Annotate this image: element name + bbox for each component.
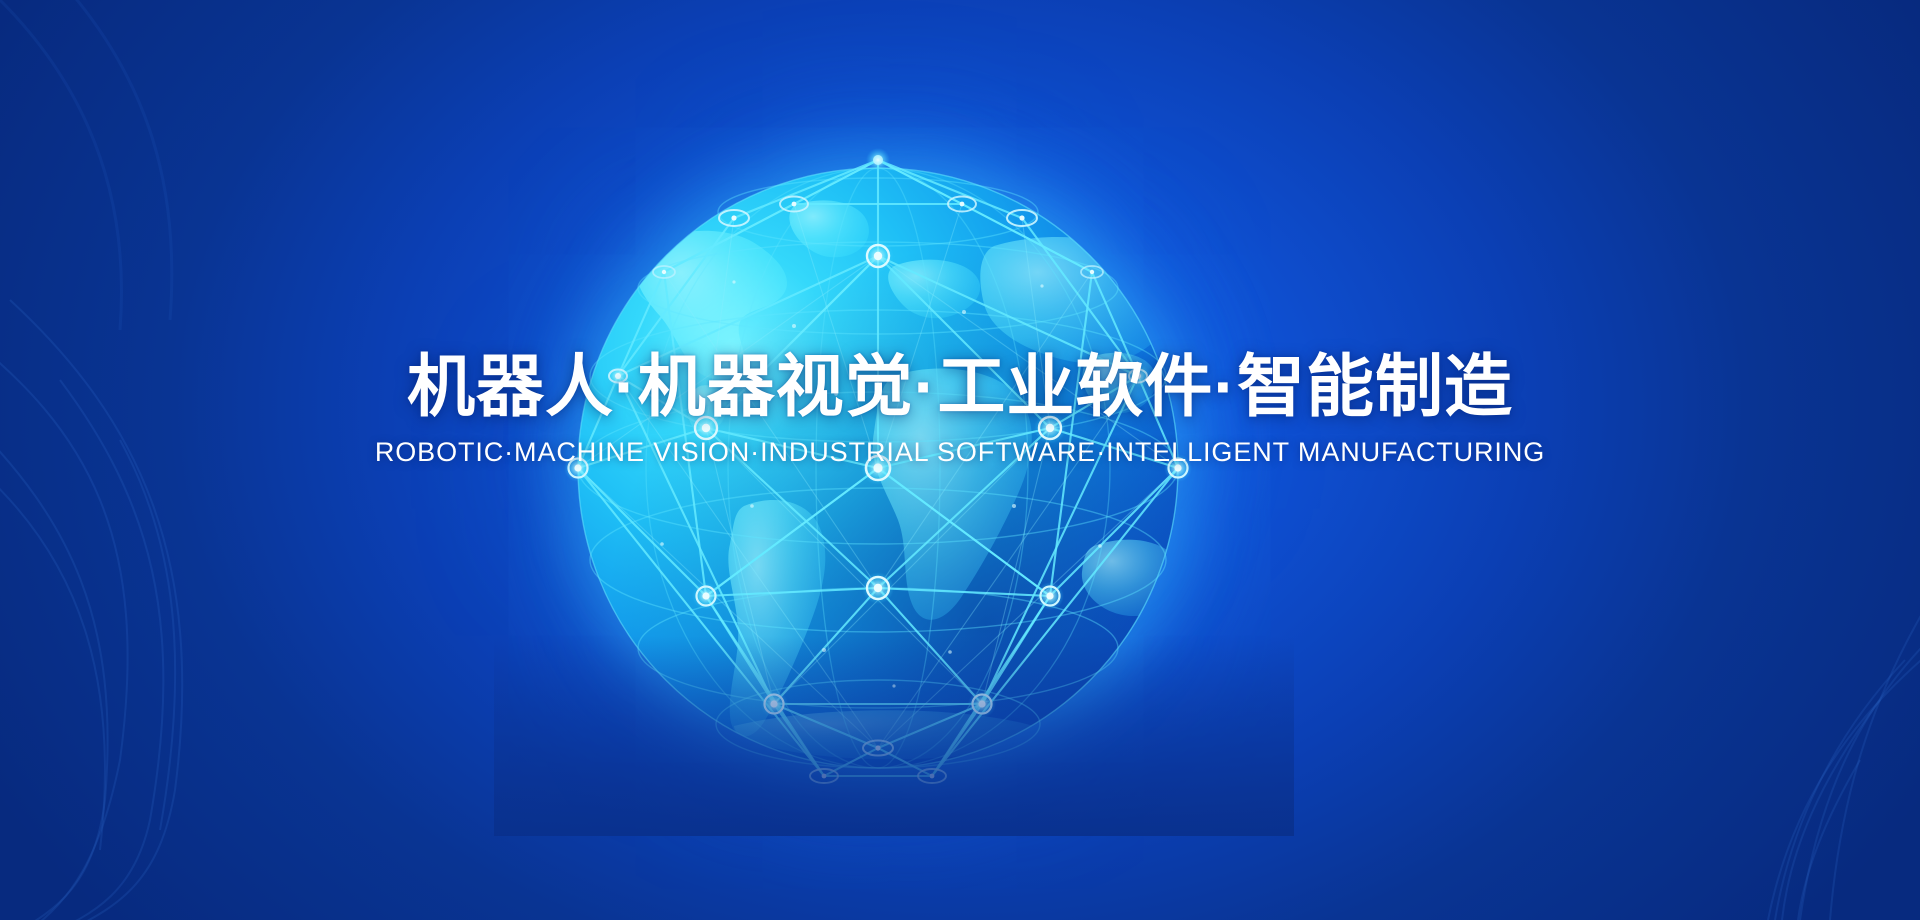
globe-network-nodes: [564, 148, 1192, 783]
globe: [494, 76, 1294, 836]
globe-wireframe-mesh: [494, 76, 1294, 836]
hero-banner: 机器人·机器视觉·工业软件·智能制造 ROBOTIC·MACHINE VISIO…: [0, 0, 1920, 920]
